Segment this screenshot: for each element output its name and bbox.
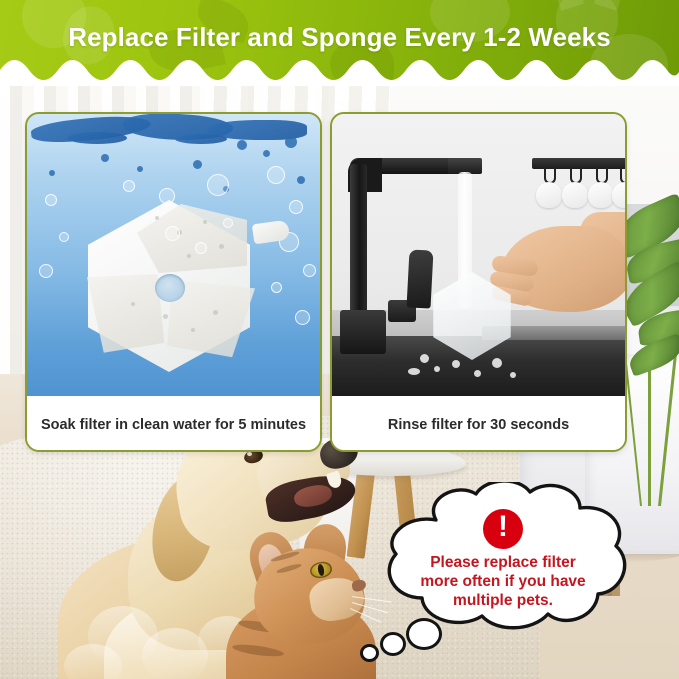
cup xyxy=(562,182,588,208)
rinse-caption: Rinse filter for 30 seconds xyxy=(332,400,625,450)
thought-trail-bubble xyxy=(380,632,406,656)
rinse-photo xyxy=(332,114,625,396)
thought-bubble: ! Please replace filter more often if yo… xyxy=(372,482,634,632)
thought-bubble-line: more often if you have xyxy=(403,572,603,591)
step-panel-rinse: Rinse filter for 30 seconds xyxy=(330,112,627,452)
product-infographic: Soak filter in clean water for 5 minutes xyxy=(0,0,679,679)
thought-bubble-line: multiple pets. xyxy=(403,591,603,610)
soak-photo xyxy=(27,114,320,396)
thought-trail-bubble xyxy=(360,644,379,662)
step-panel-soak: Soak filter in clean water for 5 minutes xyxy=(25,112,322,452)
exclamation-glyph: ! xyxy=(498,512,508,542)
page-title: Replace Filter and Sponge Every 1-2 Week… xyxy=(0,22,679,53)
header-banner: Replace Filter and Sponge Every 1-2 Week… xyxy=(0,0,679,86)
exclamation-circle-icon: ! xyxy=(483,509,523,549)
cup xyxy=(588,182,614,208)
banner-wave-edge xyxy=(0,56,679,86)
thought-trail-bubble xyxy=(406,618,442,650)
filter-center-hole xyxy=(155,274,185,302)
cup xyxy=(536,182,562,208)
thought-bubble-line: Please replace filter xyxy=(403,553,603,572)
soak-caption: Soak filter in clean water for 5 minutes xyxy=(27,400,320,450)
